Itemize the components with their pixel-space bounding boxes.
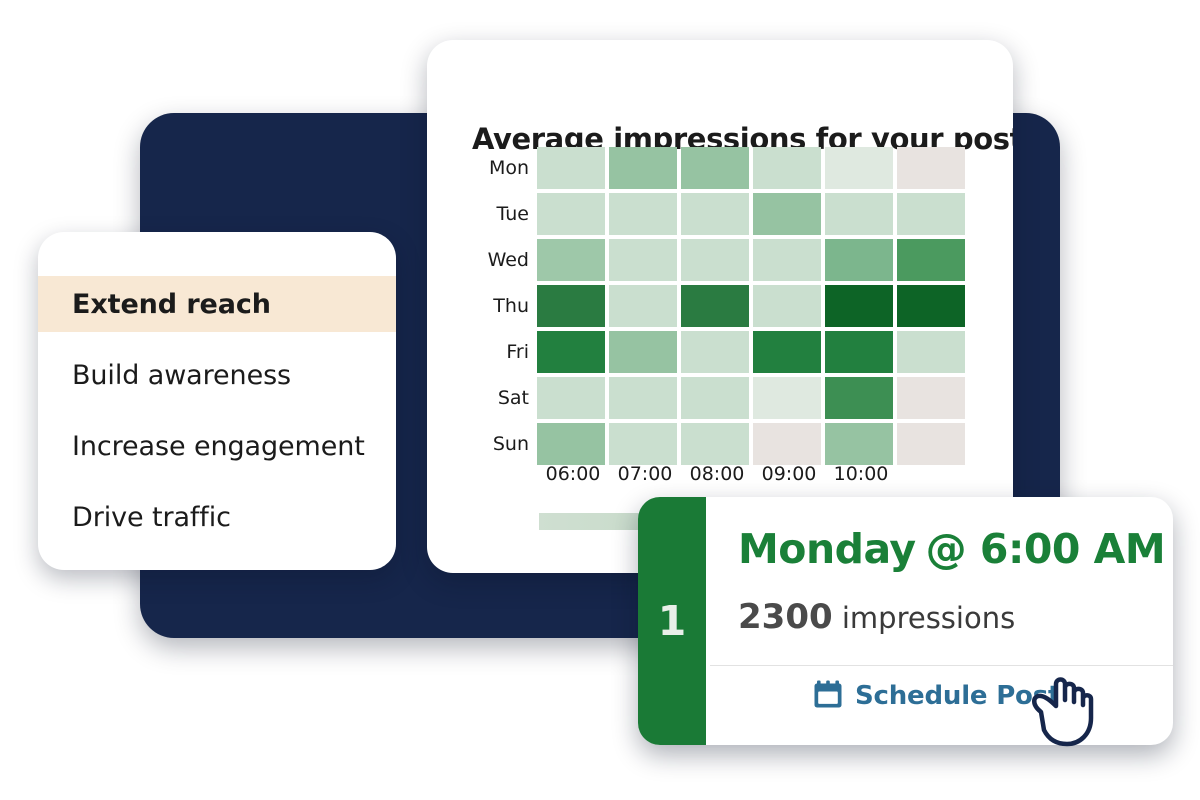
heatmap-cell-fri-2[interactable]	[681, 331, 749, 373]
heatmap-cell-thu-1[interactable]	[609, 285, 677, 327]
heatmap-row: Sun	[537, 423, 969, 465]
heatmap-cell-fri-3[interactable]	[753, 331, 821, 373]
heatmap-cell-mon-1[interactable]	[609, 147, 677, 189]
detail-impressions: 2300 impressions	[738, 597, 1015, 637]
heatmap-cell-fri-5[interactable]	[897, 331, 965, 373]
heatmap-cell-sat-0[interactable]	[537, 377, 605, 419]
detail-day: Monday	[738, 525, 916, 573]
heatmap-row: Thu	[537, 285, 969, 327]
heatmap-row: Sat	[537, 377, 969, 419]
heatmap-cell-sun-5[interactable]	[897, 423, 965, 465]
heatmap-cell-sat-5[interactable]	[897, 377, 965, 419]
calendar-icon	[813, 679, 843, 713]
heatmap-cell-sun-4[interactable]	[825, 423, 893, 465]
divider	[710, 665, 1173, 666]
goal-item-0[interactable]: Extend reach	[38, 276, 396, 332]
heatmap-row-label: Fri	[475, 331, 529, 373]
heatmap-cell-sat-3[interactable]	[753, 377, 821, 419]
heatmap-cell-mon-3[interactable]	[753, 147, 821, 189]
goal-item-label: Extend reach	[72, 289, 271, 320]
heatmap-row-label: Thu	[475, 285, 529, 327]
heatmap-cell-wed-2[interactable]	[681, 239, 749, 281]
schedule-post-label: Schedule Post	[855, 681, 1060, 711]
heatmap-x-tick-2: 08:00	[681, 463, 753, 485]
heatmap-x-tick-0: 06:00	[537, 463, 609, 485]
heatmap-cell-fri-0[interactable]	[537, 331, 605, 373]
goals-list: Extend reachBuild awarenessIncrease enga…	[38, 276, 396, 545]
detail-heading: Monday@ 6:00 AM	[738, 525, 1165, 573]
heatmap-cell-sat-4[interactable]	[825, 377, 893, 419]
heatmap-cell-tue-0[interactable]	[537, 193, 605, 235]
heatmap-row-label: Mon	[475, 147, 529, 189]
heatmap-cell-sat-1[interactable]	[609, 377, 677, 419]
heatmap-row: Mon	[537, 147, 969, 189]
heatmap-cell-mon-2[interactable]	[681, 147, 749, 189]
heatmap-cell-thu-5[interactable]	[897, 285, 965, 327]
heatmap-cell-wed-4[interactable]	[825, 239, 893, 281]
heatmap-cell-sat-2[interactable]	[681, 377, 749, 419]
heatmap-cell-tue-4[interactable]	[825, 193, 893, 235]
heatmap-cell-sun-3[interactable]	[753, 423, 821, 465]
heatmap-cell-wed-0[interactable]	[537, 239, 605, 281]
heatmap-cell-tue-3[interactable]	[753, 193, 821, 235]
heatmap-x-tick-1: 07:00	[609, 463, 681, 485]
heatmap-cell-wed-5[interactable]	[897, 239, 965, 281]
heatmap-cell-tue-2[interactable]	[681, 193, 749, 235]
heatmap-cell-wed-3[interactable]	[753, 239, 821, 281]
heatmap-row: Tue	[537, 193, 969, 235]
heatmap-cell-fri-4[interactable]	[825, 331, 893, 373]
heatmap-cell-thu-3[interactable]	[753, 285, 821, 327]
heatmap-cell-mon-5[interactable]	[897, 147, 965, 189]
heatmap-cell-tue-1[interactable]	[609, 193, 677, 235]
goal-item-label: Build awareness	[72, 360, 291, 391]
rank-badge: 1	[638, 497, 706, 745]
goal-item-1[interactable]: Build awareness	[38, 347, 396, 403]
heatmap-x-tick-4: 10:00	[825, 463, 897, 485]
heatmap-x-tick-3: 09:00	[753, 463, 825, 485]
impressions-heatmap[interactable]: MonTueWedThuFriSatSun	[537, 147, 969, 469]
goal-item-label: Drive traffic	[72, 502, 231, 533]
detail-time: @ 6:00 AM	[926, 525, 1166, 573]
heatmap-row-label: Sat	[475, 377, 529, 419]
goal-item-2[interactable]: Increase engagement	[38, 418, 396, 474]
heatmap-row-label: Sun	[475, 423, 529, 465]
heatmap-cell-tue-5[interactable]	[897, 193, 965, 235]
impressions-unit: impressions	[842, 601, 1015, 635]
heatmap-row: Wed	[537, 239, 969, 281]
goal-item-3[interactable]: Drive traffic	[38, 489, 396, 545]
heatmap-cell-sun-2[interactable]	[681, 423, 749, 465]
heatmap-cell-thu-0[interactable]	[537, 285, 605, 327]
heatmap-cell-mon-4[interactable]	[825, 147, 893, 189]
impressions-value: 2300	[738, 597, 833, 637]
goals-card: Extend reachBuild awarenessIncrease enga…	[38, 232, 396, 570]
heatmap-cell-thu-4[interactable]	[825, 285, 893, 327]
heatmap-cell-fri-1[interactable]	[609, 331, 677, 373]
heatmap-x-axis: 06:0007:0008:0009:0010:00	[537, 463, 897, 485]
heatmap-row-label: Wed	[475, 239, 529, 281]
heatmap-cell-sun-0[interactable]	[537, 423, 605, 465]
schedule-post-button[interactable]: Schedule Post	[813, 679, 1060, 713]
heatmap-row-label: Tue	[475, 193, 529, 235]
heatmap-row: Fri	[537, 331, 969, 373]
chart-card: Average impressions for your posts MonTu…	[427, 40, 1013, 573]
heatmap-cell-thu-2[interactable]	[681, 285, 749, 327]
post-detail-card: 1 Monday@ 6:00 AM 2300 impressions Sched…	[638, 497, 1173, 745]
heatmap-cell-sun-1[interactable]	[609, 423, 677, 465]
heatmap-cell-wed-1[interactable]	[609, 239, 677, 281]
goal-item-label: Increase engagement	[72, 431, 365, 462]
heatmap-cell-mon-0[interactable]	[537, 147, 605, 189]
